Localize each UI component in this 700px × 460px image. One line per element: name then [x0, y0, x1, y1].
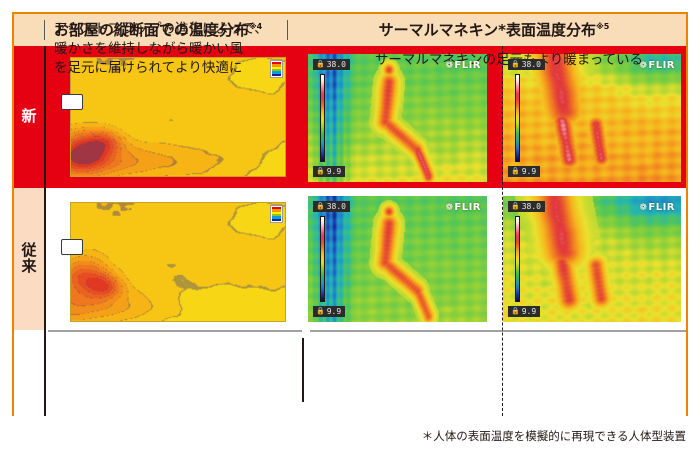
- flir-logo-text: FLIR: [454, 60, 481, 71]
- flir-logo-text: FLIR: [454, 202, 481, 213]
- flir-logo-mark-icon: ❁: [445, 203, 453, 213]
- flir-temp-min-new-feet: 🔒9.9: [508, 166, 540, 177]
- flir-logo-mark-icon: ❁: [639, 203, 647, 213]
- header-cell-mannequin: サーマルマネキン*表面温度分布※5: [302, 14, 686, 46]
- row-label-new: 新: [14, 46, 44, 188]
- flir-temp-min-value: 9.9: [522, 308, 536, 316]
- cell-legacy-seated: 🔒38.0 🔒9.9 ❁FLIR: [302, 188, 492, 330]
- flir-temp-max-value: 38.0: [522, 203, 541, 211]
- lock-icon: 🔒: [316, 61, 325, 68]
- flir-column-divider: [502, 46, 503, 416]
- flir-temp-max-legacy-seated: 🔒38.0: [313, 201, 350, 212]
- room-thermal-legacy-canvas: [71, 203, 285, 321]
- lock-icon: 🔒: [316, 168, 325, 175]
- room-legend-new: [270, 60, 283, 78]
- cell-legacy-feet: 🔒38.0 🔒9.9 ❁FLIR: [492, 188, 686, 330]
- flir-temp-max-value: 38.0: [522, 61, 541, 69]
- header-title-mannequin-text: サーマルマネキン*表面温度分布: [379, 21, 596, 39]
- flir-temp-min-legacy-seated: 🔒9.9: [313, 306, 345, 317]
- caption-left-line2: 暖かさを維持しながら暖かい風: [54, 40, 302, 60]
- flir-temp-min-value: 9.9: [327, 308, 341, 316]
- flir-temp-max-new-feet: 🔒38.0: [508, 59, 545, 70]
- flir-photo-legacy-seated: 🔒38.0 🔒9.9 ❁FLIR: [308, 196, 487, 322]
- flir-temp-min-value: 9.9: [522, 168, 536, 176]
- flir-photo-new-seated-canvas: [308, 54, 487, 182]
- caption-left: アシストフラップの進化によって、 暖かさを維持しながら暖かい風 を足元に届けられ…: [54, 20, 302, 79]
- lock-icon: 🔒: [316, 203, 325, 210]
- flir-photo-legacy-feet-canvas: [503, 196, 681, 322]
- flir-temp-max-value: 38.0: [327, 61, 346, 69]
- flir-photo-legacy-seated-canvas: [308, 196, 487, 322]
- row-captions: [14, 330, 686, 416]
- flir-logo-mark-icon: ❁: [445, 61, 453, 71]
- flir-colorbar-legacy-feet: [515, 216, 520, 302]
- label-column-divider: [44, 46, 46, 416]
- row-label-legacy: 従来: [14, 188, 44, 330]
- flir-temp-max-new-seated: 🔒38.0: [313, 59, 350, 70]
- figure-root: お部屋の縦断面での温度分布※4 サーマルマネキン*表面温度分布※5 新: [0, 0, 700, 460]
- room-thermal-legacy-canvas-wrap: [70, 202, 286, 322]
- flir-temp-max-value: 38.0: [327, 203, 346, 211]
- row-label-legacy-text: 従来: [21, 243, 36, 275]
- flir-colorbar-legacy-seated: [320, 216, 325, 302]
- flir-photo-legacy-feet: 🔒38.0 🔒9.9 ❁FLIR: [503, 196, 681, 322]
- cell-legacy-room: [44, 188, 302, 330]
- flir-temp-min-legacy-feet: 🔒9.9: [508, 306, 540, 317]
- lock-icon: 🔒: [511, 61, 520, 68]
- lock-icon: 🔒: [511, 203, 520, 210]
- caption-divider: [302, 338, 304, 402]
- flir-logo-new-seated: ❁FLIR: [445, 60, 481, 71]
- flir-colorbar-new-seated: [320, 74, 325, 162]
- flir-logo-mark-icon: ❁: [639, 61, 647, 71]
- caption-separator-right: [310, 330, 686, 332]
- footnote: ＊人体の表面温度を模擬的に再現できる人体型装置: [422, 428, 686, 444]
- header-note-mannequin: ※5: [596, 22, 609, 31]
- caption-left-line1: アシストフラップの進化によって、: [54, 20, 302, 40]
- flir-photo-new-feet: 🔒38.0 🔒9.9 ❁FLIR: [503, 54, 681, 182]
- figure-frame: お部屋の縦断面での温度分布※4 サーマルマネキン*表面温度分布※5 新: [12, 12, 688, 416]
- room-legend-legacy: [270, 205, 283, 223]
- flir-colorbar-new-feet: [515, 74, 520, 162]
- header-tick-left: [44, 20, 45, 40]
- flir-logo-text: FLIR: [648, 60, 675, 71]
- flir-temp-max-legacy-feet: 🔒38.0: [508, 201, 545, 212]
- ac-unit-icon-legacy: [61, 239, 83, 255]
- row-label-new-text: 新: [21, 109, 36, 125]
- ac-unit-icon-new: [61, 94, 83, 110]
- header-title-mannequin: サーマルマネキン*表面温度分布※5: [379, 23, 610, 38]
- flir-temp-min-new-seated: 🔒9.9: [313, 166, 345, 177]
- lock-icon: 🔒: [316, 308, 325, 315]
- flir-logo-new-feet: ❁FLIR: [639, 60, 675, 71]
- caption-left-line3: を足元に届けられてより快適に: [54, 59, 302, 79]
- row-legacy: 従来 🔒38.0 🔒9.9: [14, 188, 686, 330]
- flir-photo-new-seated: 🔒38.0 🔒9.9 ❁FLIR: [308, 54, 487, 182]
- flir-temp-min-value: 9.9: [327, 168, 341, 176]
- lock-icon: 🔒: [511, 168, 520, 175]
- lock-icon: 🔒: [511, 308, 520, 315]
- caption-separator-left: [48, 330, 302, 332]
- room-thermal-legacy: [70, 202, 286, 322]
- flir-logo-text: FLIR: [648, 202, 675, 213]
- flir-photo-new-feet-canvas: [503, 54, 681, 182]
- flir-logo-legacy-seated: ❁FLIR: [445, 202, 481, 213]
- flir-logo-legacy-feet: ❁FLIR: [639, 202, 675, 213]
- caption-label-spacer: [14, 330, 44, 416]
